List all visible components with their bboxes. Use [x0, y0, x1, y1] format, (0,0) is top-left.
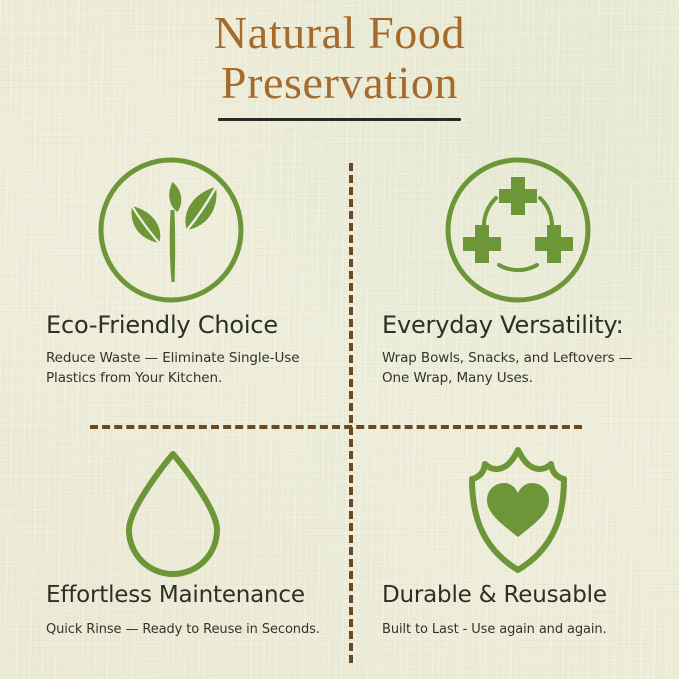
feature-card-everyday-versatility: Everyday Versatility: Wrap Bowls, Snacks…	[356, 150, 679, 388]
plus-signs-in-circle-icon	[356, 150, 679, 310]
feature-card-effortless-maintenance: Effortless Maintenance Quick Rinse — Rea…	[0, 440, 345, 640]
feature-card-durable-reusable: Durable & Reusable Built to Last - Use a…	[356, 440, 679, 640]
shield-with-heart-icon	[356, 440, 679, 580]
feature-heading: Everyday Versatility:	[382, 310, 665, 340]
feature-subtext: Quick Rinse — Ready to Reuse in Seconds.	[46, 620, 331, 640]
horizontal-dashed-divider	[90, 425, 582, 429]
feature-heading: Durable & Reusable	[382, 580, 665, 610]
page-title-line-1: Natural Food	[0, 8, 679, 58]
feature-card-eco-friendly: Eco-Friendly Choice Reduce Waste — Elimi…	[0, 150, 345, 388]
feature-heading: Effortless Maintenance	[46, 580, 331, 610]
title-underline-rule	[218, 118, 461, 121]
page-title-line-2: Preservation	[0, 58, 679, 108]
feature-subtext-line-1: Wrap Bowls, Snacks, and Leftovers —	[382, 350, 632, 366]
feature-text-eco-friendly: Eco-Friendly Choice Reduce Waste — Elimi…	[0, 310, 345, 388]
feature-subtext-line-2: One Wrap, Many Uses.	[382, 370, 533, 386]
feature-subtext: Reduce Waste — Eliminate Single-Use Plas…	[46, 348, 331, 388]
feature-text-everyday-versatility: Everyday Versatility: Wrap Bowls, Snacks…	[356, 310, 679, 388]
feature-text-durable-reusable: Durable & Reusable Built to Last - Use a…	[356, 580, 679, 640]
poster-title-block: Natural Food Preservation	[0, 8, 679, 121]
feature-subtext-line-1: Quick Rinse — Ready to Reuse in Seconds.	[46, 622, 320, 637]
water-droplet-icon	[0, 440, 345, 580]
infographic-poster: Natural Food Preservation	[0, 0, 679, 679]
feature-subtext: Built to Last - Use again and again.	[382, 620, 665, 640]
vertical-dashed-divider	[349, 163, 353, 663]
feature-text-effortless-maintenance: Effortless Maintenance Quick Rinse — Rea…	[0, 580, 345, 640]
feature-subtext-line-2: Plastics from Your Kitchen.	[46, 370, 222, 386]
feature-heading: Eco-Friendly Choice	[46, 310, 331, 340]
feature-subtext: Wrap Bowls, Snacks, and Leftovers — One …	[382, 348, 665, 388]
feature-subtext-line-1: Reduce Waste — Eliminate Single-Use	[46, 350, 299, 366]
feature-subtext-line-1: Built to Last - Use again and again.	[382, 622, 607, 637]
sprout-in-circle-icon	[0, 150, 345, 310]
